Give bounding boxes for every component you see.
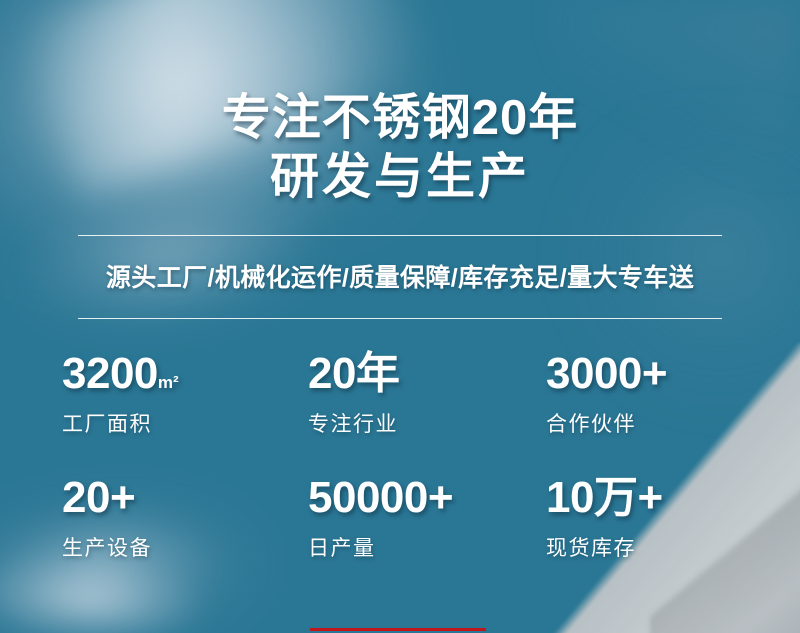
stat-label: 生产设备 bbox=[62, 532, 308, 562]
stat-number: 50000+ bbox=[308, 473, 453, 522]
stat-unit: m² bbox=[158, 373, 179, 392]
stat-value: 3200m² bbox=[62, 352, 308, 396]
promo-banner: 专注不锈钢20年 研发与生产 源头工厂/机械化运作/质量保障/库存充足/量大专车… bbox=[0, 0, 800, 633]
stat-number: 3000+ bbox=[546, 349, 667, 398]
bottom-red-rule bbox=[310, 628, 486, 631]
stat-item: 3200m² 工厂面积 bbox=[62, 352, 308, 476]
headline-line-1: 专注不锈钢20年 bbox=[0, 89, 800, 148]
stat-number: 10万+ bbox=[546, 473, 663, 522]
stats-grid: 3200m² 工厂面积 20年 专注行业 3000+ 合作伙伴 20+ 生产设备… bbox=[62, 352, 738, 600]
stat-label: 日产量 bbox=[308, 532, 546, 562]
stat-value: 10万+ bbox=[546, 476, 738, 520]
stat-number: 20年 bbox=[308, 349, 399, 398]
banner-content: 专注不锈钢20年 研发与生产 源头工厂/机械化运作/质量保障/库存充足/量大专车… bbox=[0, 0, 800, 633]
stat-label: 现货库存 bbox=[546, 532, 738, 562]
stat-label: 工厂面积 bbox=[62, 408, 308, 438]
stat-item: 50000+ 日产量 bbox=[308, 476, 546, 600]
stat-number: 3200 bbox=[62, 349, 158, 398]
page-title: 专注不锈钢20年 研发与生产 bbox=[0, 89, 800, 207]
stat-value: 20年 bbox=[308, 352, 546, 396]
stat-label: 合作伙伴 bbox=[546, 408, 738, 438]
stat-value: 50000+ bbox=[308, 476, 546, 520]
stat-item: 20+ 生产设备 bbox=[62, 476, 308, 600]
stat-value: 3000+ bbox=[546, 352, 738, 396]
stat-item: 20年 专注行业 bbox=[308, 352, 546, 476]
headline-line-2: 研发与生产 bbox=[0, 148, 800, 207]
subtitle-tagline: 源头工厂/机械化运作/质量保障/库存充足/量大专车送 bbox=[78, 258, 722, 294]
stat-number: 20+ bbox=[62, 473, 135, 522]
stat-value: 20+ bbox=[62, 476, 308, 520]
stat-label: 专注行业 bbox=[308, 408, 546, 438]
stat-item: 10万+ 现货库存 bbox=[546, 476, 738, 600]
divider-above-subtitle bbox=[78, 235, 722, 236]
divider-below-subtitle bbox=[78, 318, 722, 319]
stat-item: 3000+ 合作伙伴 bbox=[546, 352, 738, 476]
